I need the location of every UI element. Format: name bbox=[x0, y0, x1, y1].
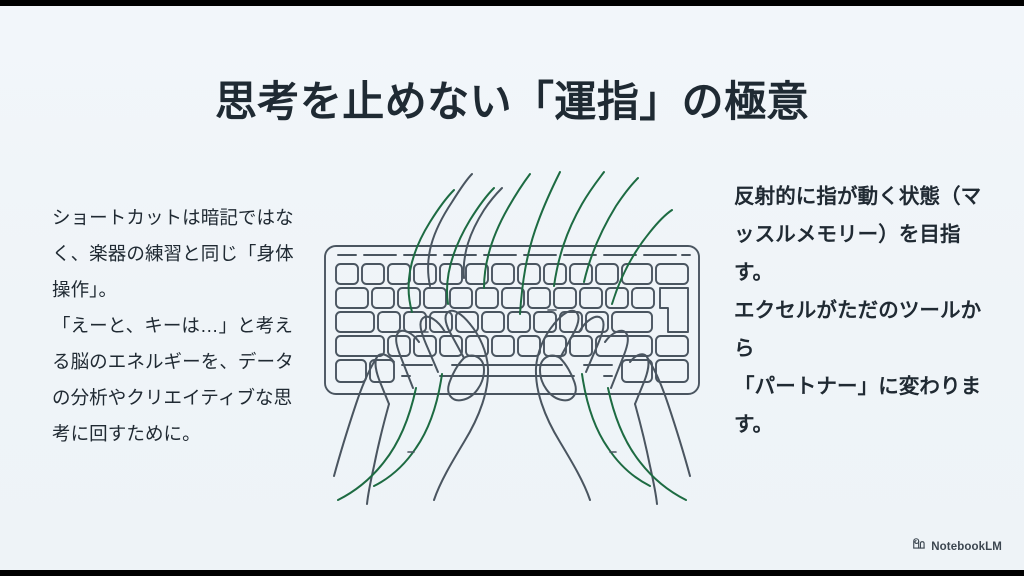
slide-canvas: 思考を止めない「運指」の極意 ショートカットは暗記ではなく、楽器の練習と同じ「身… bbox=[0, 6, 1024, 570]
hands-typing-on-keyboard-illustration bbox=[312, 136, 712, 506]
keyboard-row-2 bbox=[336, 288, 688, 332]
page-title: 思考を止めない「運指」の極意 bbox=[0, 76, 1024, 129]
letterbox-bottom-bar bbox=[0, 570, 1024, 576]
letterbox-top-bar bbox=[0, 0, 1024, 6]
right-body-text: 反射的に指が動く状態（マッスルメモリー）を目指す。 エクセルがただのツールから … bbox=[734, 178, 986, 444]
notebooklm-spiral-logo-icon bbox=[912, 537, 926, 556]
notebooklm-watermark: NotebookLM bbox=[912, 537, 1002, 556]
left-body-text: ショートカットは暗記ではなく、楽器の練習と同じ「身体操作」。 「えーと、キーは…… bbox=[52, 200, 304, 452]
keyboard-row-1 bbox=[336, 264, 688, 284]
lower-motion-trails-group bbox=[338, 374, 686, 500]
keyboard-row-5 bbox=[336, 360, 688, 382]
keyboard-row-4 bbox=[336, 336, 688, 356]
keyboard-row-3 bbox=[336, 312, 652, 332]
keyboard-body-group bbox=[325, 246, 699, 394]
slide-root: 思考を止めない「運指」の極意 ショートカットは暗記ではなく、楽器の練習と同じ「身… bbox=[0, 0, 1024, 576]
notebooklm-watermark-label: NotebookLM bbox=[931, 541, 1002, 553]
